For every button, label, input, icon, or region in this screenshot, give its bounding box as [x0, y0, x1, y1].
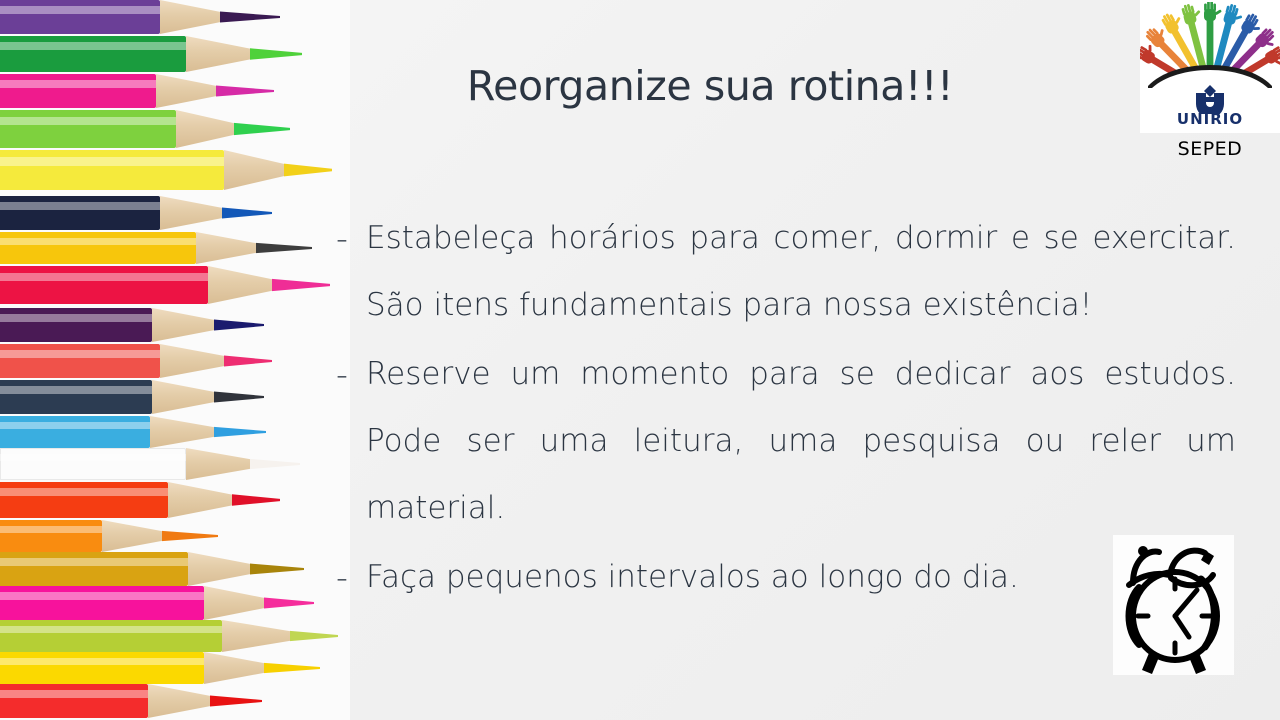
seped-caption: SEPED	[1140, 138, 1280, 160]
pencil-wood-cone	[156, 74, 218, 108]
pencil-wood-cone	[224, 150, 286, 190]
pencil	[0, 150, 350, 190]
pencil-barrel	[0, 620, 222, 652]
pencil-wood-cone	[152, 308, 216, 342]
pencil-wood-cone	[102, 520, 164, 552]
pencil	[0, 552, 350, 586]
pencil-barrel	[0, 196, 160, 230]
pencil-wood-cone	[204, 586, 266, 620]
pencil-wood-cone	[222, 620, 292, 652]
pencil-tip	[220, 0, 280, 34]
list-item: - Reserve um momento para se dedicar aos…	[336, 341, 1236, 542]
pencil-tip	[210, 684, 262, 718]
pencil-wood-cone	[188, 552, 252, 586]
bullet-text: Faça pequenos intervalos ao longo do dia…	[366, 544, 1236, 611]
pencil-tip	[214, 380, 264, 414]
pencil-barrel	[0, 482, 168, 518]
bullet-text: Estabeleça horários para comer, dormir e…	[366, 205, 1236, 339]
pencil-tip	[224, 344, 272, 378]
pencil-tip	[290, 620, 338, 652]
pencil	[0, 416, 350, 448]
page-title: Reorganize sua rotina!!!	[360, 62, 1060, 110]
pencil-tip	[162, 520, 218, 552]
pencil-wood-cone	[208, 266, 274, 304]
pencil-barrel	[0, 586, 204, 620]
pencil	[0, 74, 350, 108]
pencil-barrel	[0, 552, 188, 586]
pencil-wood-cone	[204, 652, 266, 684]
pencil-wood-cone	[160, 344, 226, 378]
pencil	[0, 652, 350, 684]
list-item: - Estabeleça horários para comer, dormir…	[336, 205, 1236, 339]
pencil-barrel	[0, 150, 224, 190]
alarm-clock-image	[1113, 535, 1234, 675]
pencil-tip	[272, 266, 330, 304]
pencil	[0, 344, 350, 378]
pencil-tip	[214, 308, 264, 342]
pencil-tip	[250, 36, 302, 72]
pencil	[0, 586, 350, 620]
pencil	[0, 266, 350, 304]
pencil-barrel	[0, 74, 156, 108]
pencil-wood-cone	[186, 36, 252, 72]
pencil	[0, 110, 350, 148]
bullet-text: Reserve um momento para se dedicar aos e…	[366, 341, 1236, 542]
pencil-barrel	[0, 308, 152, 342]
pencil-tip	[264, 652, 320, 684]
pencil-barrel	[0, 36, 186, 72]
pencil-wood-cone	[150, 416, 216, 448]
pencil-barrel	[0, 416, 150, 448]
pencil-tip	[250, 448, 300, 480]
pencil	[0, 308, 350, 342]
pencil	[0, 482, 350, 518]
pencil-tip	[216, 74, 274, 108]
pencil-barrel	[0, 232, 196, 264]
pencil-barrel	[0, 448, 186, 480]
pencil-wood-cone	[176, 110, 236, 148]
pencil-wood-cone	[196, 232, 258, 264]
pencil	[0, 232, 350, 264]
pencil-wood-cone	[152, 380, 216, 414]
pencil-barrel	[0, 520, 102, 552]
alarm-clock-icon	[1113, 535, 1234, 675]
bullet-marker: -	[336, 205, 366, 272]
pencil-tip	[264, 586, 314, 620]
pencil-tip	[284, 150, 332, 190]
pencil	[0, 380, 350, 414]
slide-canvas: Reorganize sua rotina!!! - Estabeleça ho…	[0, 0, 1280, 720]
raised-hands-icon	[1140, 2, 1280, 88]
pencil-barrel	[0, 684, 148, 718]
bullet-list: - Estabeleça horários para comer, dormir…	[336, 205, 1236, 613]
pencil	[0, 0, 350, 34]
pencil-tip	[250, 552, 304, 586]
pencil-tip	[234, 110, 290, 148]
bullet-marker: -	[336, 341, 366, 408]
colored-pencils-photo	[0, 0, 350, 720]
pencil-barrel	[0, 344, 160, 378]
unirio-wordmark: UNIRIO	[1140, 110, 1280, 128]
pencil-barrel	[0, 0, 160, 34]
pencil-tip	[222, 196, 272, 230]
pencil-wood-cone	[148, 684, 212, 718]
pencil	[0, 684, 350, 718]
pencil-barrel	[0, 110, 176, 148]
pencil-wood-cone	[160, 196, 224, 230]
pencil	[0, 448, 350, 480]
pencil-tip	[232, 482, 280, 518]
pencil-wood-cone	[168, 482, 234, 518]
pencil-barrel	[0, 380, 152, 414]
pencil-wood-cone	[186, 448, 252, 480]
pencil-tip	[256, 232, 312, 264]
pencil-wood-cone	[160, 0, 222, 34]
pencil	[0, 520, 350, 552]
bullet-marker: -	[336, 544, 366, 611]
pencil-barrel	[0, 652, 204, 684]
pencil-tip	[214, 416, 266, 448]
pencil	[0, 620, 350, 652]
list-item: - Faça pequenos intervalos ao longo do d…	[336, 544, 1236, 611]
pencil	[0, 196, 350, 230]
pencil	[0, 36, 350, 72]
pencil-barrel	[0, 266, 208, 304]
unirio-logo: UNIRIO	[1140, 0, 1280, 133]
